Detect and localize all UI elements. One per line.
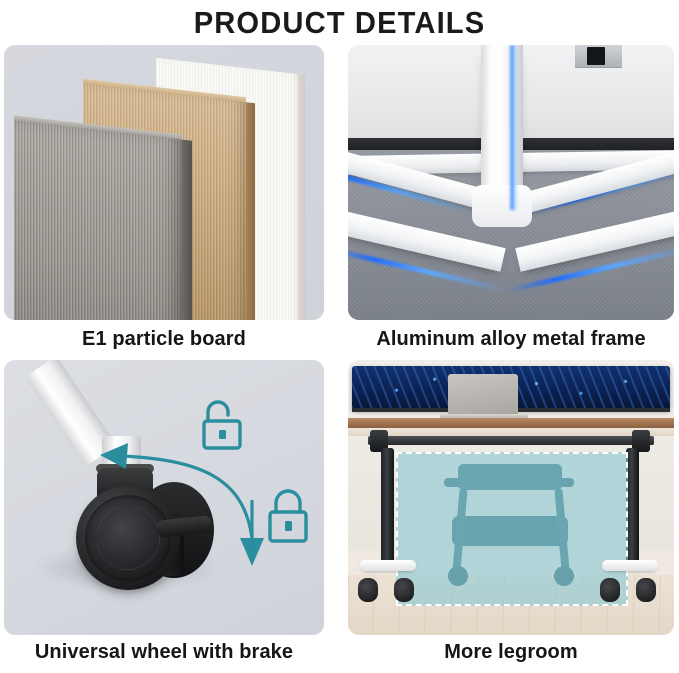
caption-universal-wheel-with-brake: Universal wheel with brake [4, 641, 324, 664]
desk-caster-left-front [358, 578, 378, 602]
image-more-legroom [348, 360, 674, 635]
desk-caster-right-front [600, 578, 620, 602]
gray-board-edge [182, 140, 192, 320]
unlock-arrow-curve [122, 456, 252, 538]
legroom-highlight-overlay [396, 452, 628, 606]
white-board-edge [298, 74, 305, 320]
desk-leg-left [381, 448, 394, 566]
desk-foot-left [360, 560, 416, 604]
frame-junction-hub [472, 185, 532, 227]
caption-aluminum-alloy-metal-frame: Aluminum alloy metal frame [348, 328, 674, 351]
desktop-surface [348, 418, 674, 428]
gray-board-face [14, 120, 182, 320]
desktop-underside [348, 428, 674, 436]
detail-cell-e1-particle-board: E1 particle board [4, 45, 324, 320]
lock-arrow-head [240, 538, 264, 566]
detail-cell-aluminum-alloy-metal-frame: Aluminum alloy metal frame [348, 45, 674, 320]
lock-annotation-group [4, 360, 324, 635]
lock-padlock-icon [270, 491, 306, 541]
caption-e1-particle-board: E1 particle board [4, 328, 324, 351]
image-aluminum-alloy-metal-frame [348, 45, 674, 320]
unlock-padlock-icon [204, 402, 240, 448]
image-universal-wheel-with-brake [4, 360, 324, 635]
unlock-arrow-head [100, 443, 128, 469]
desk-caster-left-rear [394, 578, 414, 602]
laptop [448, 374, 518, 416]
detail-cell-more-legroom: More legroom [348, 360, 674, 635]
gray-board-sample [14, 120, 182, 320]
image-e1-particle-board [4, 45, 324, 320]
wood-board-edge [246, 102, 255, 320]
product-details-page: PRODUCT DETAILS E1 particle board [0, 0, 679, 673]
desk-support-rail [368, 436, 654, 445]
column-blue-glow [509, 45, 518, 210]
desk-foot-bar-left [360, 560, 416, 571]
monitor-mount-bracket [575, 45, 622, 68]
desk-foot-bar-right [602, 560, 658, 571]
caption-more-legroom: More legroom [348, 641, 674, 664]
page-title: PRODUCT DETAILS [20, 0, 658, 45]
desk-foot-right [602, 560, 658, 604]
detail-cell-universal-wheel-with-brake: Universal wheel with brake [4, 360, 324, 635]
desk-caster-right-rear [636, 578, 656, 602]
